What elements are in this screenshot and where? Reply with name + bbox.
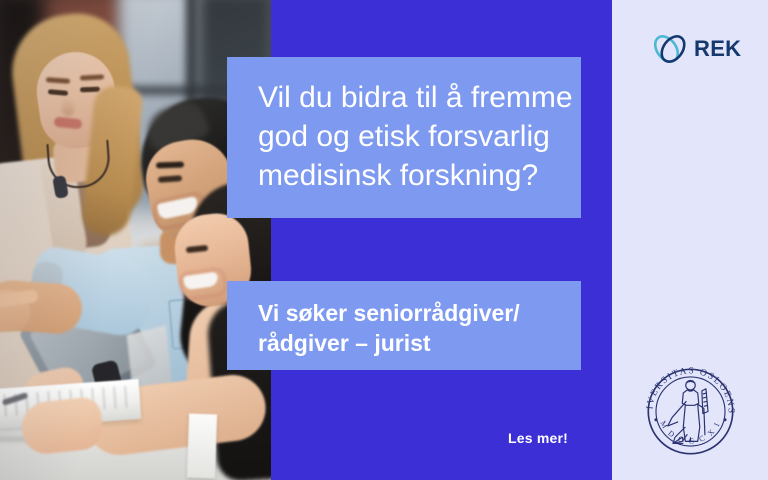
- rek-wordmark: REK: [694, 38, 741, 60]
- photo-person-blonde-eye-right: [80, 87, 100, 93]
- rek-interlocking-ellipses-icon: [650, 29, 690, 69]
- photo-notebook: [187, 414, 217, 479]
- headline-line-2: god og etisk forsvarlig: [258, 117, 555, 156]
- photo-person-man-brow: [156, 162, 184, 169]
- headline-line-3: medisinsk forskning?: [258, 156, 555, 195]
- role-line-2: rådgiver – jurist: [258, 328, 559, 358]
- rek-logo[interactable]: REK: [650, 27, 736, 71]
- uio-seal-icon: UNIVERSITAS OSLOENSIS M D C C C X I: [639, 360, 742, 463]
- headline-card: Vil du bidra til å fremme god og etisk f…: [227, 57, 581, 218]
- headline-line-1: Vil du bidra til å fremme: [258, 78, 555, 117]
- recruitment-banner: Vil du bidra til å fremme god og etisk f…: [0, 0, 768, 480]
- photo-person-blonde-nose: [62, 98, 74, 116]
- uio-seal-top-text: UNIVERSITAS OSLOENSIS: [639, 360, 736, 415]
- role-line-1: Vi søker seniorrådgiver/: [258, 298, 559, 328]
- read-more-cta[interactable]: Les mer!: [400, 430, 568, 446]
- role-card: Vi søker seniorrådgiver/ rådgiver – juri…: [227, 281, 581, 370]
- uio-seal: UNIVERSITAS OSLOENSIS M D C C C X I: [639, 360, 742, 463]
